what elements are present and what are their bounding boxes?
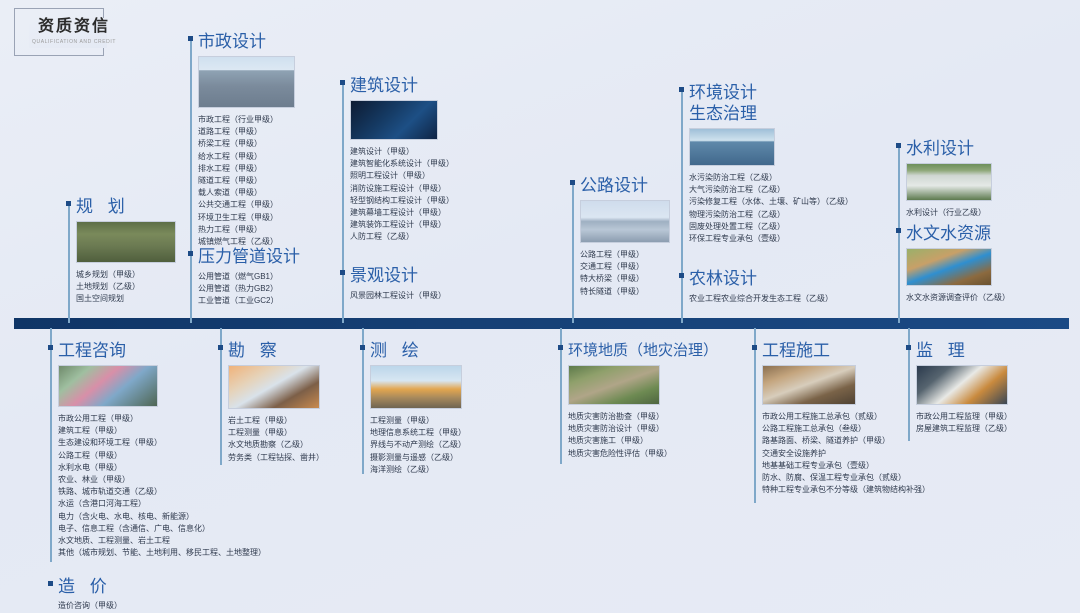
section-municipal-design: 市政设计 市政工程（行业甲级） 道路工程（甲级） 桥梁工程（甲级） 给水工程（甲… <box>188 31 338 248</box>
page-subtitle: QUALIFICATION AND CREDIT <box>32 38 116 46</box>
list-item: 地质灾害防治设计（甲级） <box>568 423 758 435</box>
section-landscape-design: 景观设计 风景园林工程设计（甲级） <box>340 265 530 302</box>
list-item: 地质灾害施工（甲级） <box>568 435 758 447</box>
planning-item-list: 城乡规划（甲级） 土地规划（乙级） 国土空间规划 <box>76 269 196 306</box>
list-item: 建筑装饰工程设计（甲级） <box>350 219 530 231</box>
list-item: 房屋建筑工程监理（乙级） <box>916 423 1076 435</box>
list-item: 地质灾害防治勘查（甲级） <box>568 411 758 423</box>
list-item: 土地规划（乙级） <box>76 281 196 293</box>
list-item: 热力工程（甲级） <box>198 224 338 236</box>
list-item: 电力（含火电、水电、核电、新能源） <box>58 511 318 523</box>
surveying-thumbnail <box>370 365 462 409</box>
section-heading: 压力管道设计 <box>198 246 338 267</box>
supervision-thumbnail <box>916 365 1008 405</box>
list-item: 轻型钢结构工程设计（甲级） <box>350 195 530 207</box>
section-pressure-pipeline-design: 压力管道设计 公用管道（燃气GB1） 公用管道（热力GB2） 工业管道（工业GC… <box>188 246 338 308</box>
section-environmental-design: 环境设计 生态治理 水污染防治工程（乙级） 大气污染防治工程（乙级） 污染修复工… <box>679 82 919 245</box>
section-bullet <box>340 80 345 85</box>
municipal-design-item-list: 市政工程（行业甲级） 道路工程（甲级） 桥梁工程（甲级） 给水工程（甲级） 排水… <box>198 114 338 248</box>
list-item: 海洋测绘（乙级） <box>370 464 520 476</box>
surveying-item-list: 工程测量（甲级） 地理信息系统工程（甲级） 界线与不动产测绘（乙级） 摄影测量与… <box>370 415 520 476</box>
list-item: 公共交通工程（甲级） <box>198 199 338 211</box>
list-item: 城乡规划（甲级） <box>76 269 196 281</box>
section-heading: 勘 察 <box>228 340 368 361</box>
architectural-design-item-list: 建筑设计（甲级） 建筑智能化系统设计（甲级） 照明工程设计（甲级） 消防设施工程… <box>350 146 530 244</box>
water-conservancy-thumbnail <box>906 163 992 201</box>
section-bullet <box>679 87 684 92</box>
section-surveying-mapping: 测 绘 工程测量（甲级） 地理信息系统工程（甲级） 界线与不动产测绘（乙级） 摄… <box>360 340 520 476</box>
list-item: 市政工程（行业甲级） <box>198 114 338 126</box>
engineering-consulting-thumbnail <box>58 365 158 407</box>
list-item: 铁路、城市轨道交通（乙级） <box>58 486 318 498</box>
section-heading: 建筑设计 <box>350 75 530 96</box>
list-item: 岩土工程（甲级） <box>228 415 368 427</box>
list-item: 造价咨询（甲级） <box>58 600 248 612</box>
list-item: 水文水资源调查评价（乙级） <box>906 292 1066 304</box>
section-heading: 监 理 <box>916 340 1076 361</box>
list-item: 国土空间规划 <box>76 293 196 305</box>
connector-rail <box>572 180 574 323</box>
investigation-thumbnail <box>228 365 320 409</box>
list-item: 特种工程专业承包不分等级（建筑物结构补强） <box>762 484 982 496</box>
connector-rail <box>50 328 52 562</box>
environmental-design-thumbnail <box>689 128 775 166</box>
list-item: 固废处理处置工程（乙级） <box>689 221 919 233</box>
section-geotechnical-investigation: 勘 察 岩土工程（甲级） 工程测量（甲级） 水文地质勘察（乙级） 劳务类（工程钻… <box>218 340 368 464</box>
list-item: 建筑智能化系统设计（甲级） <box>350 158 530 170</box>
list-item: 其他（城市规划、节能、土地利用、移民工程、土地整理） <box>58 547 318 559</box>
section-heading: 规 划 <box>76 196 196 217</box>
logo-text: 资质资信 QUALIFICATION AND CREDIT <box>32 17 116 46</box>
list-item: 水利设计（行业乙级） <box>906 207 1056 219</box>
section-divider-bar <box>14 318 1069 329</box>
list-item: 人防工程（乙级） <box>350 231 530 243</box>
section-heading: 市政设计 <box>198 31 338 52</box>
list-item: 工业管道（工业GC2） <box>198 295 338 307</box>
list-item: 环保工程专业承包（壹级） <box>689 233 919 245</box>
page-title: 资质资信 <box>32 17 116 37</box>
section-bullet <box>558 345 563 350</box>
list-item: 道路工程（甲级） <box>198 126 338 138</box>
section-bullet <box>66 201 71 206</box>
landscape-design-item-list: 风景园林工程设计（甲级） <box>350 290 530 302</box>
planning-thumbnail <box>76 221 176 263</box>
list-item: 地质灾害危险性评估（甲级） <box>568 448 758 460</box>
architectural-design-thumbnail <box>350 100 438 140</box>
environmental-geology-item-list: 地质灾害防治勘查（甲级） 地质灾害防治设计（甲级） 地质灾害施工（甲级） 地质灾… <box>568 411 758 460</box>
list-item: 排水工程（甲级） <box>198 163 338 175</box>
list-item: 水污染防治工程（乙级） <box>689 172 919 184</box>
list-item: 交通安全设施养护 <box>762 448 982 460</box>
connector-rail <box>68 201 70 323</box>
logo-block: 资质资信 QUALIFICATION AND CREDIT <box>14 8 126 56</box>
list-item: 消防设施工程设计（甲级） <box>350 183 530 195</box>
section-heading: 测 绘 <box>370 340 520 361</box>
section-environmental-geology: 环境地质（地灾治理） 地质灾害防治勘查（甲级） 地质灾害防治设计（甲级） 地质灾… <box>558 340 758 460</box>
section-bullet <box>48 581 53 586</box>
section-bullet <box>188 36 193 41</box>
list-item: 路基路面、桥梁、隧道养护（甲级） <box>762 435 982 447</box>
list-item: 公用管道（热力GB2） <box>198 283 338 295</box>
list-item: 物理污染防治工程（乙级） <box>689 209 919 221</box>
list-item: 环境卫生工程（甲级） <box>198 212 338 224</box>
list-item: 给水工程（甲级） <box>198 151 338 163</box>
section-hydrology-water-resources: 水文水资源 水文水资源调查评价（乙级） <box>896 223 1066 304</box>
list-item: 地基基础工程专业承包（壹级） <box>762 460 982 472</box>
hydrology-thumbnail <box>906 248 992 286</box>
list-item: 劳务类（工程钻探、凿井） <box>228 452 368 464</box>
section-bullet <box>896 228 901 233</box>
environmental-design-item-list: 水污染防治工程（乙级） 大气污染防治工程（乙级） 污染修复工程（水体、土壤、矿山… <box>689 172 919 245</box>
list-item: 公路工程（甲级） <box>580 249 710 261</box>
list-item: 建筑设计（甲级） <box>350 146 530 158</box>
list-item: 摄影测量与遥感（乙级） <box>370 452 520 464</box>
highway-design-thumbnail <box>580 200 670 243</box>
section-bullet <box>340 270 345 275</box>
section-bullet <box>48 345 53 350</box>
section-bullet <box>360 345 365 350</box>
section-water-conservancy-design: 水利设计 水利设计（行业乙级） <box>896 138 1056 219</box>
list-item: 照明工程设计（甲级） <box>350 170 530 182</box>
section-architectural-design: 建筑设计 建筑设计（甲级） 建筑智能化系统设计（甲级） 照明工程设计（甲级） 消… <box>340 75 530 244</box>
section-agriculture-forestry-design: 农林设计 农业工程农业综合开发生态工程（乙级） <box>679 268 929 305</box>
list-item: 大气污染防治工程（乙级） <box>689 184 919 196</box>
connector-rail <box>754 328 756 503</box>
cost-estimation-item-list: 造价咨询（甲级） <box>58 600 248 612</box>
section-cost-estimation: 造 价 造价咨询（甲级） <box>48 576 248 612</box>
section-bullet <box>896 143 901 148</box>
list-item: 建筑幕墙工程设计（甲级） <box>350 207 530 219</box>
section-bullet <box>218 345 223 350</box>
section-heading: 水文水资源 <box>906 223 1066 244</box>
supervision-item-list: 市政公用工程监理（甲级） 房屋建筑工程监理（乙级） <box>916 411 1076 435</box>
section-heading: 水利设计 <box>906 138 1056 159</box>
pressure-pipeline-item-list: 公用管道（燃气GB1） 公用管道（热力GB2） 工业管道（工业GC2） <box>198 271 338 308</box>
section-heading: 环境设计 <box>689 82 919 103</box>
section-heading: 农林设计 <box>689 268 929 289</box>
list-item: 电子、信息工程（含通信、广电、信息化） <box>58 523 318 535</box>
section-bullet <box>188 251 193 256</box>
section-heading-line2: 生态治理 <box>689 103 919 124</box>
section-heading: 造 价 <box>58 576 248 597</box>
list-item: 市政公用工程监理（甲级） <box>916 411 1076 423</box>
list-item: 农业、林业（甲级） <box>58 474 318 486</box>
section-planning: 规 划 城乡规划（甲级） 土地规划（乙级） 国土空间规划 <box>66 196 196 306</box>
list-item: 农业工程农业综合开发生态工程（乙级） <box>689 293 929 305</box>
environmental-geology-thumbnail <box>568 365 660 405</box>
list-item: 工程测量（甲级） <box>370 415 520 427</box>
section-bullet <box>906 345 911 350</box>
list-item: 水运（含港口河海工程） <box>58 498 318 510</box>
list-item: 污染修复工程（水体、土壤、矿山等）（乙级） <box>689 196 919 208</box>
section-bullet <box>752 345 757 350</box>
list-item: 桥梁工程（甲级） <box>198 138 338 150</box>
list-item: 载人索道（甲级） <box>198 187 338 199</box>
section-construction-supervision: 监 理 市政公用工程监理（甲级） 房屋建筑工程监理（乙级） <box>906 340 1076 435</box>
list-item: 工程测量（甲级） <box>228 427 368 439</box>
list-item: 隧道工程（甲级） <box>198 175 338 187</box>
investigation-item-list: 岩土工程（甲级） 工程测量（甲级） 水文地质勘察（乙级） 劳务类（工程钻探、凿井… <box>228 415 368 464</box>
hydrology-item-list: 水文水资源调查评价（乙级） <box>906 292 1066 304</box>
construction-thumbnail <box>762 365 856 405</box>
agriculture-forestry-item-list: 农业工程农业综合开发生态工程（乙级） <box>689 293 929 305</box>
municipal-design-thumbnail <box>198 56 295 108</box>
list-item: 公用管道（燃气GB1） <box>198 271 338 283</box>
list-item: 风景园林工程设计（甲级） <box>350 290 530 302</box>
list-item: 水文地质、工程测量、岩土工程 <box>58 535 318 547</box>
section-bullet <box>679 273 684 278</box>
section-bullet <box>570 180 575 185</box>
list-item: 界线与不动产测绘（乙级） <box>370 439 520 451</box>
list-item: 防水、防腐、保温工程专业承包（贰级） <box>762 472 982 484</box>
section-heading: 环境地质（地灾治理） <box>568 340 758 361</box>
list-item: 水文地质勘察（乙级） <box>228 439 368 451</box>
water-conservancy-item-list: 水利设计（行业乙级） <box>906 207 1056 219</box>
section-heading: 景观设计 <box>350 265 530 286</box>
list-item: 地理信息系统工程（甲级） <box>370 427 520 439</box>
